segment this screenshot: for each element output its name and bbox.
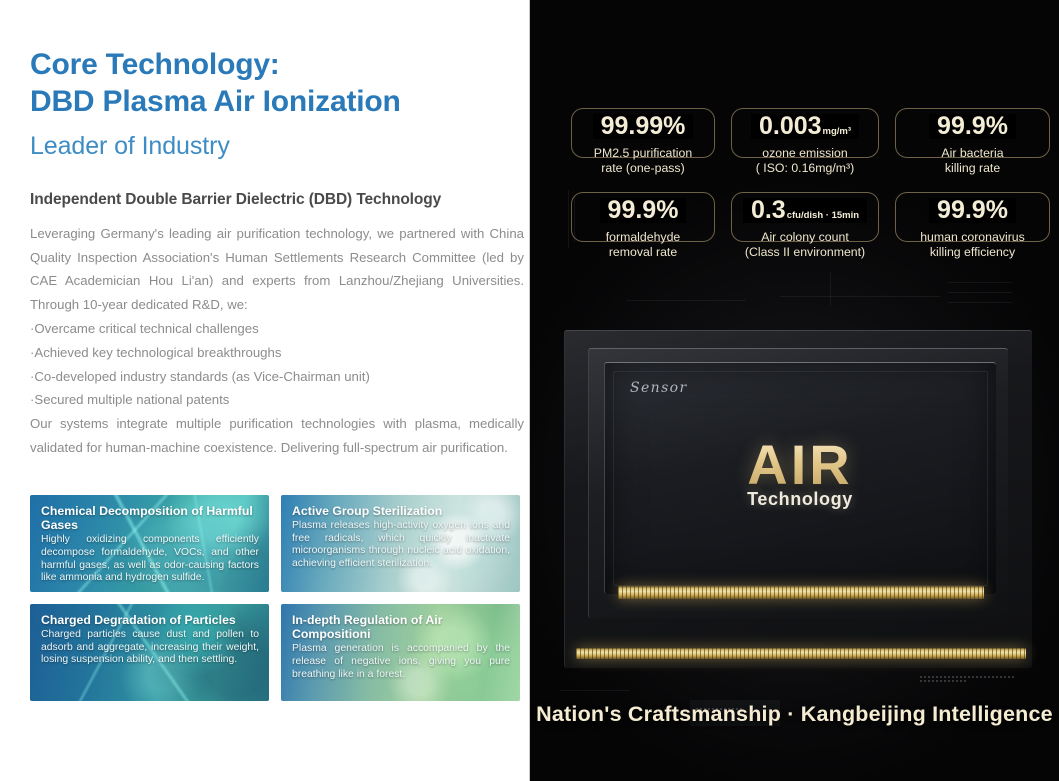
stat-label: Air colony count (Class II environment): [731, 230, 879, 259]
solder-pad-dots-icon: [920, 676, 1016, 682]
feature-card-grid: Chemical Decomposition of Harmful Gases …: [30, 495, 520, 715]
stat-value: 0.003mg/m³: [751, 114, 859, 139]
panel-tagline: Nation's Craftsmanship · Kangbeijing Int…: [530, 702, 1059, 727]
bullet-item: ·Secured multiple national patents: [30, 388, 524, 412]
stat-value: 99.99%: [593, 114, 694, 139]
body-paragraph-2: Our systems integrate multiple purificat…: [30, 412, 524, 460]
feature-card[interactable]: In-depth Regulation of Air Compositioni …: [281, 604, 520, 701]
stat-label: PM2.5 purification rate (one-pass): [571, 146, 715, 175]
stat-badge: 99.9% human coronavirus killing efficien…: [895, 172, 1050, 242]
stat-label: Air bacteria killing rate: [895, 146, 1050, 175]
stat-value: 99.9%: [929, 114, 1016, 139]
stat-badge: 0.003mg/m³ ozone emission ( ISO: 0.16mg/…: [731, 88, 879, 158]
stat-badge: 99.9% formaldehyde removal rate: [571, 172, 715, 242]
stat-badge: 99.99% PM2.5 purification rate (one-pass…: [571, 88, 715, 158]
achievement-bullet-list: ·Overcame critical technical challenges …: [30, 317, 524, 412]
page-title-line-2: DBD Plasma Air Ionization: [30, 83, 530, 120]
stat-label: formaldehyde removal rate: [571, 230, 715, 259]
stat-unit: cfu/dish · 15min: [787, 210, 859, 221]
panel-divider: [529, 0, 530, 781]
body-paragraph-1: Leveraging Germany's leading air purific…: [30, 222, 524, 317]
feature-card-body: Charged particles cause dust and pollen …: [41, 629, 259, 667]
feature-card-body: Plasma generation is accompanied by the …: [292, 643, 510, 681]
body-copy: Leveraging Germany's leading air purific…: [30, 222, 524, 460]
feature-card-body: Plasma releases high-activity oxygen ion…: [292, 520, 510, 570]
feature-card[interactable]: Active Group Sterilization Plasma releas…: [281, 495, 520, 592]
page-title-line-1: Core Technology:: [30, 46, 530, 83]
stat-unit: mg/m³: [823, 126, 852, 137]
bullet-item: ·Co-developed industry standards (as Vic…: [30, 365, 524, 389]
feature-card-title: Active Group Sterilization: [292, 504, 510, 518]
page-subtitle: Leader of Industry: [30, 130, 530, 163]
stat-badge-grid: 99.99% PM2.5 purification rate (one-pass…: [571, 88, 1050, 242]
gold-pin-strip-upper-icon: [618, 586, 984, 599]
section-heading: Independent Double Barrier Dielectric (D…: [30, 191, 530, 209]
stat-value: 99.9%: [600, 198, 687, 223]
stat-badge: 0.3cfu/dish · 15min Air colony count (Cl…: [731, 172, 879, 242]
right-visual-panel: Sensor AIR Technology 99.99% PM2.5 purif…: [530, 0, 1059, 781]
stat-value: 99.9%: [929, 198, 1016, 223]
page-title: Core Technology: DBD Plasma Air Ionizati…: [30, 46, 530, 120]
stat-badge: 99.9% Air bacteria killing rate: [895, 88, 1050, 158]
bullet-item: ·Achieved key technological breakthrough…: [30, 341, 524, 365]
feature-card[interactable]: Charged Degradation of Particles Charged…: [30, 604, 269, 701]
chip-brand-subword: Technology: [604, 489, 996, 510]
stat-value: 0.3cfu/dish · 15min: [743, 198, 867, 223]
feature-card-title: Chemical Decomposition of Harmful Gases: [41, 504, 259, 532]
chip-brand-word: AIR: [604, 432, 996, 497]
stat-label: human coronavirus killing efficiency: [895, 230, 1050, 259]
gold-pin-strip-lower-icon: [576, 648, 1026, 659]
stat-label: ozone emission ( ISO: 0.16mg/m³): [731, 146, 879, 175]
feature-card-title: Charged Degradation of Particles: [41, 613, 259, 627]
chip-sensor-label: Sensor: [630, 380, 688, 396]
feature-card[interactable]: Chemical Decomposition of Harmful Gases …: [30, 495, 269, 592]
bullet-item: ·Overcame critical technical challenges: [30, 317, 524, 341]
feature-card-title: In-depth Regulation of Air Compositioni: [292, 613, 510, 641]
feature-card-body: Highly oxidizing components efficiently …: [41, 534, 259, 584]
